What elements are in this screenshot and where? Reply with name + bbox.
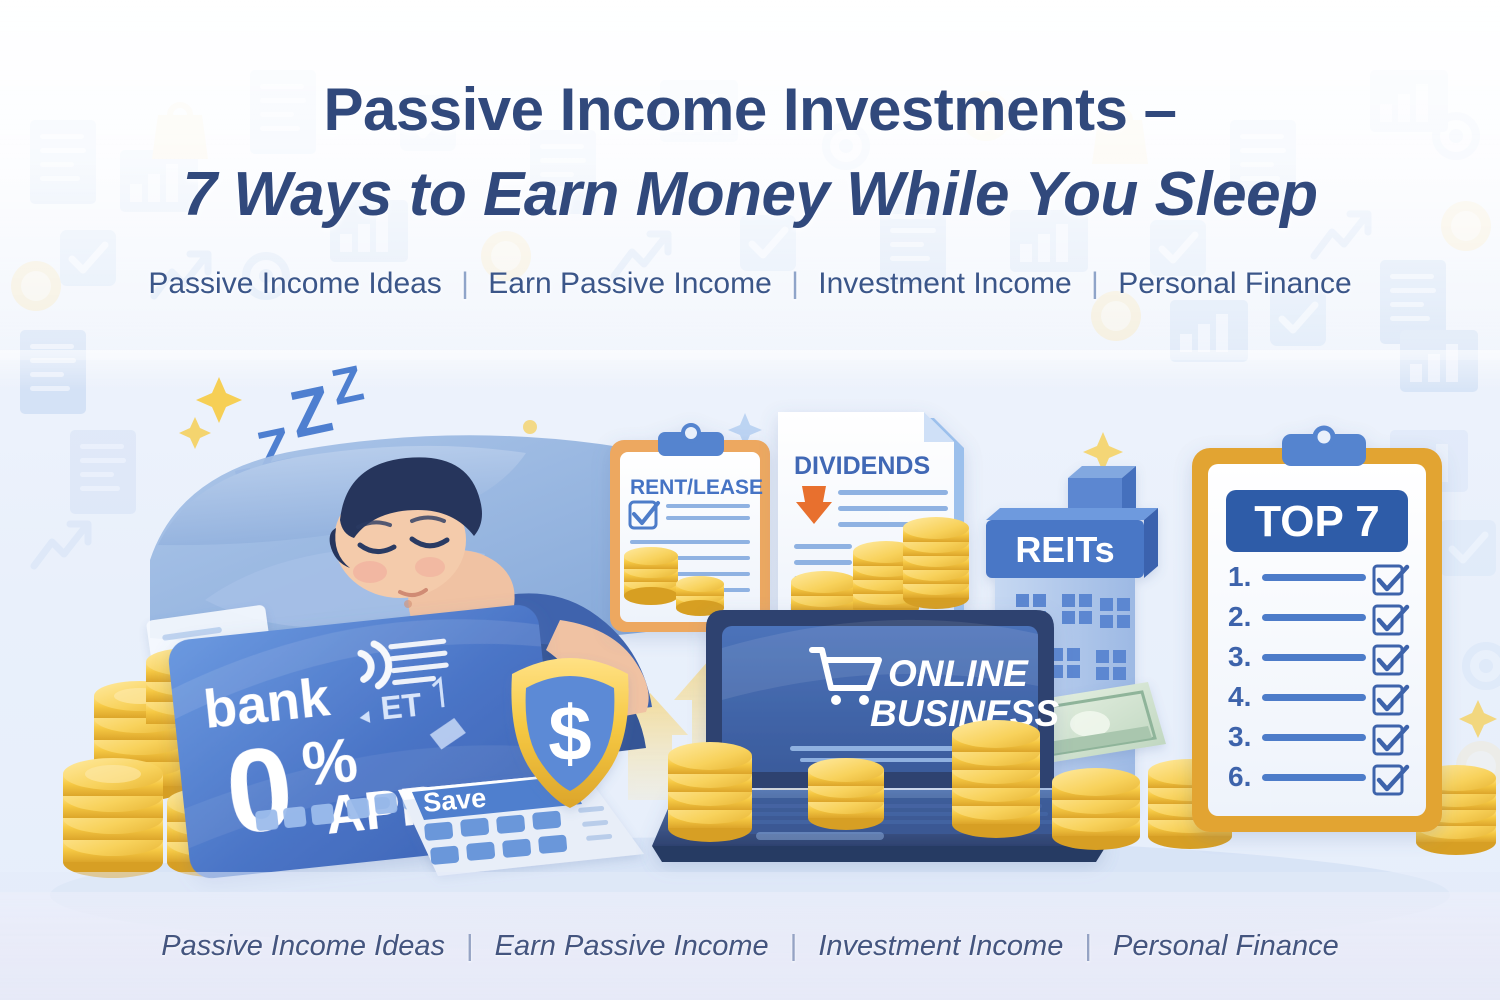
caption-item-2: Investment Income: [818, 930, 1063, 962]
poster-canvas: z Z Z Z: [0, 0, 1500, 1000]
subtitle-item-1: Earn Passive Income: [488, 267, 771, 300]
top7-row-number: 1.: [1228, 561, 1251, 592]
laptop-screen-line1: ONLINE: [888, 653, 1029, 694]
top7-row-line: [1262, 614, 1366, 621]
top7-row-number: 6.: [1228, 761, 1251, 792]
top7-row-line: [1262, 734, 1366, 741]
caption-item-3: Personal Finance: [1113, 930, 1339, 962]
keyword-caption: Passive Income Ideas | Earn Passive Inco…: [161, 930, 1338, 963]
caption-item-1: Earn Passive Income: [495, 930, 769, 962]
svg-text:Z: Z: [284, 371, 339, 452]
svg-text:Z: Z: [327, 355, 369, 416]
poster-header: Passive Income Investments – 7 Ways to E…: [0, 78, 1500, 301]
top7-row-line: [1262, 774, 1366, 781]
top7-row-number: 4.: [1228, 681, 1251, 712]
caption-separator: |: [1071, 930, 1105, 962]
dividends-title: DIVIDENDS: [794, 452, 930, 480]
subtitle-separator: |: [450, 267, 480, 300]
subtitle-item-0: Passive Income Ideas: [148, 267, 441, 300]
top7-row-number: 2.: [1228, 601, 1251, 632]
caption-separator: |: [453, 930, 487, 962]
subtitle-item-3: Personal Finance: [1118, 267, 1351, 300]
subtitle-item-2: Investment Income: [818, 267, 1071, 300]
card-chip-label: ET: [379, 686, 424, 726]
rent-lease-title: RENT/LEASE: [630, 476, 763, 499]
caption-separator: |: [777, 930, 811, 962]
top7-row-line: [1262, 694, 1366, 701]
page-title-line1: Passive Income Investments –: [0, 78, 1500, 142]
subtitle-separator: |: [780, 267, 810, 300]
top7-row-line: [1262, 654, 1366, 661]
subtitle-separator: |: [1080, 267, 1110, 300]
top7-header-label: TOP 7: [1254, 497, 1380, 546]
card-rate-number: 0: [220, 722, 299, 860]
calculator-display-text: Save: [422, 783, 487, 818]
dividends-document: DIVIDENDS: [778, 412, 969, 640]
top7-row-number: 3.: [1228, 641, 1251, 672]
rent-lease-clipboard: RENT/LEASE: [610, 425, 770, 632]
reits-building-label: REITs: [1015, 529, 1114, 570]
footer-caption-band: Passive Income Ideas | Earn Passive Inco…: [0, 892, 1500, 1000]
shield-dollar-symbol: $: [548, 689, 591, 777]
top7-row-line: [1262, 574, 1366, 581]
page-title-line2: 7 Ways to Earn Money While You Sleep: [0, 162, 1500, 228]
top7-checklist-clipboard: TOP 7 1. 2.: [1192, 428, 1442, 832]
keyword-subtitle: Passive Income Ideas | Earn Passive Inco…: [0, 267, 1500, 301]
caption-item-0: Passive Income Ideas: [161, 930, 445, 962]
top7-row-number: 3.: [1228, 721, 1251, 752]
